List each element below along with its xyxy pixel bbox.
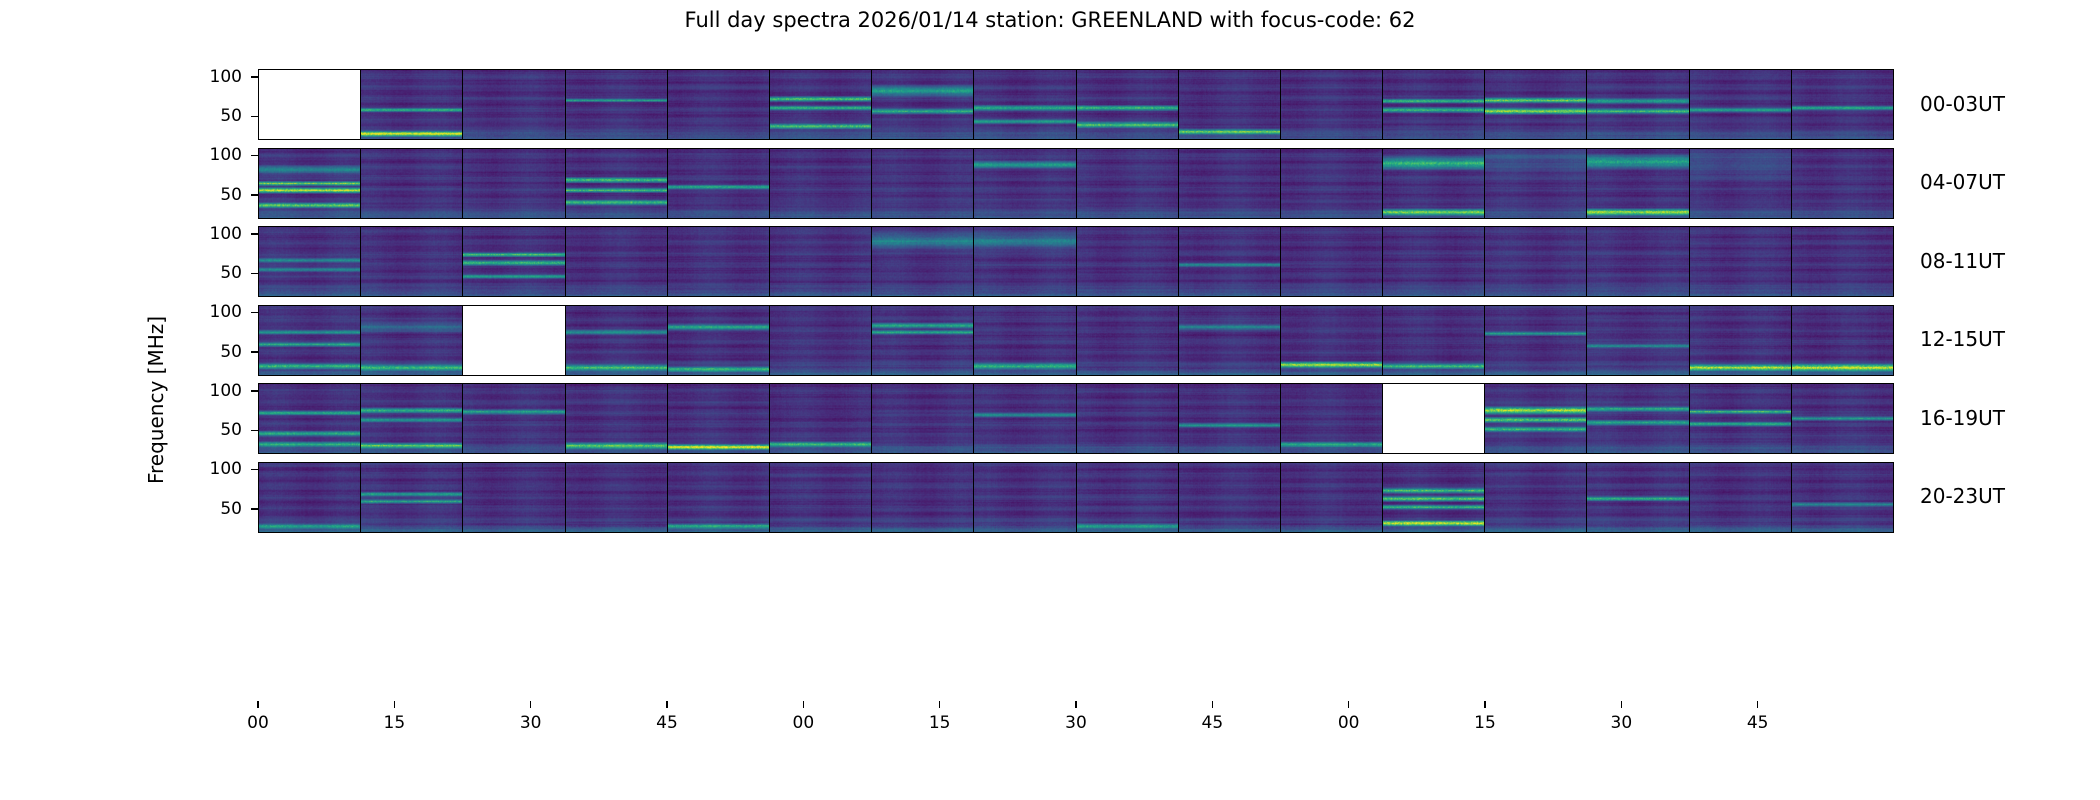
spectrogram-canvas	[668, 149, 769, 218]
spectrogram-panel	[463, 384, 565, 453]
x-tick-label: 15	[384, 713, 406, 733]
spectrogram-canvas	[872, 306, 973, 375]
spectrogram-canvas	[1485, 384, 1586, 453]
spectrogram-panel	[668, 384, 770, 453]
spectrogram-panel	[1690, 384, 1792, 453]
spectrogram-canvas	[1587, 463, 1688, 532]
spectrogram-canvas	[463, 227, 564, 296]
y-tick-label: 100	[182, 381, 242, 401]
spectrogram-canvas	[1587, 306, 1688, 375]
spectrogram-panel	[463, 463, 565, 532]
spectrogram-panel	[668, 227, 770, 296]
y-tick-mark	[251, 116, 258, 118]
spectrogram-panel	[259, 463, 361, 532]
spectrogram-panel	[1690, 70, 1792, 139]
spectrogram-canvas	[1690, 70, 1791, 139]
spectrogram-panel	[566, 227, 668, 296]
spectrogram-canvas	[1485, 149, 1586, 218]
spectrogram-canvas	[361, 384, 462, 453]
x-tick-label: 00	[793, 713, 815, 733]
spectrogram-panel	[770, 149, 872, 218]
spectrogram-panel	[872, 70, 974, 139]
spectrogram-canvas	[566, 306, 667, 375]
spectrogram-panel	[566, 384, 668, 453]
spectrogram-panel	[1485, 70, 1587, 139]
y-tick-label: 100	[182, 145, 242, 165]
spectrogram-canvas	[1690, 384, 1791, 453]
spectrogram-panel	[1179, 306, 1281, 375]
spectrogram-canvas	[1690, 149, 1791, 218]
spectrogram-canvas	[1587, 70, 1688, 139]
spectrogram-row	[258, 383, 1894, 454]
x-tick-label: 00	[1338, 713, 1360, 733]
spectrogram-canvas	[1281, 306, 1382, 375]
spectrogram-canvas	[1179, 70, 1280, 139]
panel-strip	[259, 463, 1893, 532]
spectrogram-canvas	[668, 227, 769, 296]
spectrogram-canvas	[1690, 463, 1791, 532]
spectrogram-figure: Full day spectra 2026/01/14 station: GRE…	[0, 0, 2100, 800]
spectrogram-panel	[361, 227, 463, 296]
spectrogram-panel-missing	[463, 306, 565, 375]
spectrogram-panel	[974, 306, 1076, 375]
spectrogram-canvas	[259, 227, 360, 296]
y-tick-mark	[251, 351, 258, 353]
spectrogram-panel	[1077, 384, 1179, 453]
x-tick-mark	[530, 701, 532, 708]
spectrogram-canvas	[1077, 149, 1178, 218]
spectrogram-panel	[1587, 463, 1689, 532]
spectrogram-canvas	[1077, 463, 1178, 532]
spectrogram-panel	[1587, 384, 1689, 453]
spectrogram-panel	[1587, 227, 1689, 296]
spectrogram-panel	[1792, 227, 1893, 296]
spectrogram-panel	[1077, 463, 1179, 532]
spectrogram-panel	[1077, 70, 1179, 139]
spectrogram-panel	[361, 70, 463, 139]
spectrogram-canvas	[1792, 149, 1893, 218]
spectrogram-canvas	[974, 384, 1075, 453]
y-tick-label: 50	[182, 263, 242, 283]
spectrogram-panel	[1281, 149, 1383, 218]
spectrogram-canvas	[1587, 149, 1688, 218]
spectrogram-canvas	[770, 384, 871, 453]
spectrogram-panel	[770, 384, 872, 453]
spectrogram-canvas	[1792, 463, 1893, 532]
spectrogram-canvas	[770, 306, 871, 375]
spectrogram-panel	[872, 463, 974, 532]
y-tick-label: 50	[182, 420, 242, 440]
spectrogram-canvas	[974, 227, 1075, 296]
spectrogram-canvas	[1792, 384, 1893, 453]
spectrogram-panel	[974, 149, 1076, 218]
spectrogram-panel	[361, 149, 463, 218]
spectrogram-panel	[1179, 70, 1281, 139]
y-tick-mark	[251, 76, 258, 78]
y-tick-label: 100	[182, 224, 242, 244]
spectrogram-panel	[872, 227, 974, 296]
spectrogram-canvas	[1179, 149, 1280, 218]
spectrogram-panel	[1179, 227, 1281, 296]
x-tick-mark	[1075, 701, 1077, 708]
y-tick-label: 100	[182, 459, 242, 479]
spectrogram-panel	[1179, 384, 1281, 453]
spectrogram-panel	[259, 227, 361, 296]
spectrogram-canvas	[668, 306, 769, 375]
x-tick-mark	[1484, 701, 1486, 708]
y-tick-label: 100	[182, 302, 242, 322]
spectrogram-canvas	[1587, 384, 1688, 453]
x-tick-mark	[1621, 701, 1623, 708]
spectrogram-panel	[1383, 70, 1485, 139]
spectrogram-canvas	[566, 70, 667, 139]
row-label-08-11ut: 08-11UT	[1920, 249, 2005, 273]
spectrogram-panel	[1383, 227, 1485, 296]
spectrogram-canvas	[463, 70, 564, 139]
spectrogram-canvas	[770, 149, 871, 218]
spectrogram-panel	[1690, 149, 1792, 218]
spectrogram-canvas	[1485, 306, 1586, 375]
spectrogram-canvas	[1281, 463, 1382, 532]
spectrogram-panel	[463, 227, 565, 296]
spectrogram-panel-missing	[259, 70, 361, 139]
panel-strip	[259, 70, 1893, 139]
spectrogram-canvas	[1281, 70, 1382, 139]
spectrogram-panel	[463, 70, 565, 139]
spectrogram-panel	[974, 227, 1076, 296]
spectrogram-panel	[1383, 149, 1485, 218]
spectrogram-panel	[668, 149, 770, 218]
spectrogram-canvas	[1383, 70, 1484, 139]
spectrogram-canvas	[259, 306, 360, 375]
spectrogram-canvas	[1383, 306, 1484, 375]
panel-strip	[259, 149, 1893, 218]
spectrogram-panel	[1690, 463, 1792, 532]
spectrogram-canvas	[566, 463, 667, 532]
spectrogram-canvas	[668, 70, 769, 139]
x-tick-mark	[1348, 701, 1350, 708]
spectrogram-canvas	[463, 463, 564, 532]
spectrogram-panel	[668, 463, 770, 532]
spectrogram-panel	[1077, 149, 1179, 218]
spectrogram-canvas	[1281, 227, 1382, 296]
spectrogram-canvas	[259, 384, 360, 453]
x-tick-label: 30	[1065, 713, 1087, 733]
spectrogram-panel	[259, 306, 361, 375]
spectrogram-panel	[1587, 306, 1689, 375]
spectrogram-canvas	[872, 149, 973, 218]
spectrogram-panel	[566, 70, 668, 139]
spectrogram-canvas	[1690, 227, 1791, 296]
spectrogram-canvas	[1485, 227, 1586, 296]
spectrogram-canvas	[566, 227, 667, 296]
spectrogram-canvas	[1077, 227, 1178, 296]
spectrogram-panel	[770, 306, 872, 375]
spectrogram-canvas	[1179, 384, 1280, 453]
spectrogram-canvas	[361, 70, 462, 139]
spectrogram-panel	[1587, 70, 1689, 139]
spectrogram-canvas	[1281, 384, 1382, 453]
spectrogram-canvas	[259, 149, 360, 218]
spectrogram-panel	[872, 384, 974, 453]
y-tick-mark	[251, 194, 258, 196]
spectrogram-panel	[1792, 463, 1893, 532]
spectrogram-panel	[1077, 227, 1179, 296]
spectrogram-canvas	[1690, 306, 1791, 375]
spectrogram-panel	[361, 306, 463, 375]
x-tick-mark	[803, 701, 805, 708]
spectrogram-panel	[566, 463, 668, 532]
spectrogram-row	[258, 69, 1894, 140]
spectrogram-canvas	[566, 149, 667, 218]
y-tick-mark	[251, 508, 258, 510]
y-tick-label: 50	[182, 106, 242, 126]
spectrogram-panel	[668, 306, 770, 375]
spectrogram-panel	[1485, 306, 1587, 375]
x-tick-label: 00	[247, 713, 269, 733]
panel-strip	[259, 384, 1893, 453]
spectrogram-panel	[1281, 384, 1383, 453]
spectrogram-canvas	[770, 70, 871, 139]
spectrogram-canvas	[259, 463, 360, 532]
spectrogram-panel	[1179, 463, 1281, 532]
spectrogram-canvas	[1383, 149, 1484, 218]
x-tick-label: 45	[656, 713, 678, 733]
spectrogram-canvas	[1179, 227, 1280, 296]
spectrogram-panel	[566, 149, 668, 218]
spectrogram-canvas	[1792, 227, 1893, 296]
spectrogram-canvas	[974, 463, 1075, 532]
spectrogram-panel	[1792, 149, 1893, 218]
spectrogram-canvas	[1281, 149, 1382, 218]
spectrogram-panel	[1485, 149, 1587, 218]
spectrogram-canvas	[1077, 306, 1178, 375]
spectrogram-canvas	[361, 227, 462, 296]
row-label-00-03ut: 00-03UT	[1920, 92, 2005, 116]
spectrogram-canvas	[361, 149, 462, 218]
y-tick-label: 50	[182, 342, 242, 362]
spectrogram-canvas	[974, 70, 1075, 139]
spectrogram-canvas	[1792, 70, 1893, 139]
spectrogram-canvas	[566, 384, 667, 453]
spectrogram-panel-missing	[1383, 384, 1485, 453]
y-tick-label: 50	[182, 499, 242, 519]
panel-strip	[259, 306, 1893, 375]
row-label-12-15ut: 12-15UT	[1920, 327, 2005, 351]
spectrogram-canvas	[974, 306, 1075, 375]
x-tick-mark	[1757, 701, 1759, 708]
x-tick-mark	[257, 701, 259, 708]
x-tick-label: 30	[1611, 713, 1633, 733]
spectrogram-panel	[1179, 149, 1281, 218]
spectrogram-panel	[1383, 463, 1485, 532]
x-tick-label: 15	[929, 713, 951, 733]
spectrogram-panel	[259, 149, 361, 218]
spectrogram-canvas	[668, 463, 769, 532]
spectrogram-panel	[361, 384, 463, 453]
spectrogram-panel	[1383, 306, 1485, 375]
page-title: Full day spectra 2026/01/14 station: GRE…	[0, 8, 2100, 32]
spectrogram-panel	[1792, 384, 1893, 453]
spectrogram-canvas	[1383, 463, 1484, 532]
spectrogram-panel	[1281, 463, 1383, 532]
x-tick-label: 45	[1202, 713, 1224, 733]
x-tick-mark	[939, 701, 941, 708]
spectrogram-canvas	[872, 227, 973, 296]
spectrogram-canvas	[361, 463, 462, 532]
spectrogram-panel	[872, 149, 974, 218]
row-label-20-23ut: 20-23UT	[1920, 484, 2005, 508]
x-tick-mark	[394, 701, 396, 708]
y-tick-mark	[251, 469, 258, 471]
spectrogram-canvas	[872, 384, 973, 453]
y-tick-label: 100	[182, 67, 242, 87]
spectrogram-canvas	[1485, 70, 1586, 139]
y-tick-mark	[251, 390, 258, 392]
y-tick-mark	[251, 312, 258, 314]
y-tick-mark	[251, 155, 258, 157]
spectrogram-panel	[1281, 70, 1383, 139]
x-tick-label: 15	[1474, 713, 1496, 733]
panel-strip	[259, 227, 1893, 296]
spectrogram-row	[258, 305, 1894, 376]
spectrogram-canvas	[1179, 463, 1280, 532]
spectrogram-canvas	[463, 384, 564, 453]
spectrogram-panel	[770, 463, 872, 532]
spectrogram-canvas	[974, 149, 1075, 218]
spectrogram-panel	[259, 384, 361, 453]
row-label-16-19ut: 16-19UT	[1920, 406, 2005, 430]
spectrogram-panel	[1485, 227, 1587, 296]
spectrogram-row	[258, 148, 1894, 219]
spectrogram-row	[258, 226, 1894, 297]
spectrogram-panel	[872, 306, 974, 375]
y-tick-label: 50	[182, 185, 242, 205]
spectrogram-canvas	[668, 384, 769, 453]
spectrogram-canvas	[1179, 306, 1280, 375]
spectrogram-panel	[770, 70, 872, 139]
y-tick-mark	[251, 273, 258, 275]
spectrogram-canvas	[872, 70, 973, 139]
spectrogram-panel	[668, 70, 770, 139]
spectrogram-panel	[1690, 227, 1792, 296]
spectrogram-canvas	[770, 227, 871, 296]
spectrogram-canvas	[770, 463, 871, 532]
spectrogram-canvas	[1485, 463, 1586, 532]
x-tick-label: 30	[520, 713, 542, 733]
spectrogram-panel	[974, 463, 1076, 532]
spectrogram-panel	[1485, 384, 1587, 453]
spectrogram-panel	[1792, 70, 1893, 139]
spectrogram-canvas	[1077, 70, 1178, 139]
spectrogram-panel	[1690, 306, 1792, 375]
x-tick-mark	[666, 701, 668, 708]
spectrogram-panel	[1281, 306, 1383, 375]
spectrogram-canvas	[1587, 227, 1688, 296]
spectrogram-canvas	[872, 463, 973, 532]
y-tick-mark	[251, 430, 258, 432]
y-tick-mark	[251, 233, 258, 235]
spectrogram-panel	[566, 306, 668, 375]
spectrogram-panel	[1485, 463, 1587, 532]
spectrogram-panel	[1281, 227, 1383, 296]
spectrogram-panel	[770, 227, 872, 296]
spectrogram-panel	[1587, 149, 1689, 218]
spectrogram-row	[258, 462, 1894, 533]
y-axis-label: Frequency [MHz]	[144, 316, 168, 484]
spectrogram-canvas	[1077, 384, 1178, 453]
row-label-04-07ut: 04-07UT	[1920, 170, 2005, 194]
spectrogram-panel	[974, 384, 1076, 453]
x-tick-label: 45	[1747, 713, 1769, 733]
spectrogram-panel	[1077, 306, 1179, 375]
spectrogram-canvas	[1792, 306, 1893, 375]
spectrogram-canvas	[1383, 227, 1484, 296]
spectrogram-canvas	[361, 306, 462, 375]
spectrogram-panel	[463, 149, 565, 218]
spectrogram-panel	[974, 70, 1076, 139]
spectrogram-panel	[1792, 306, 1893, 375]
x-tick-mark	[1212, 701, 1214, 708]
spectrogram-canvas	[463, 149, 564, 218]
spectrogram-panel	[361, 463, 463, 532]
